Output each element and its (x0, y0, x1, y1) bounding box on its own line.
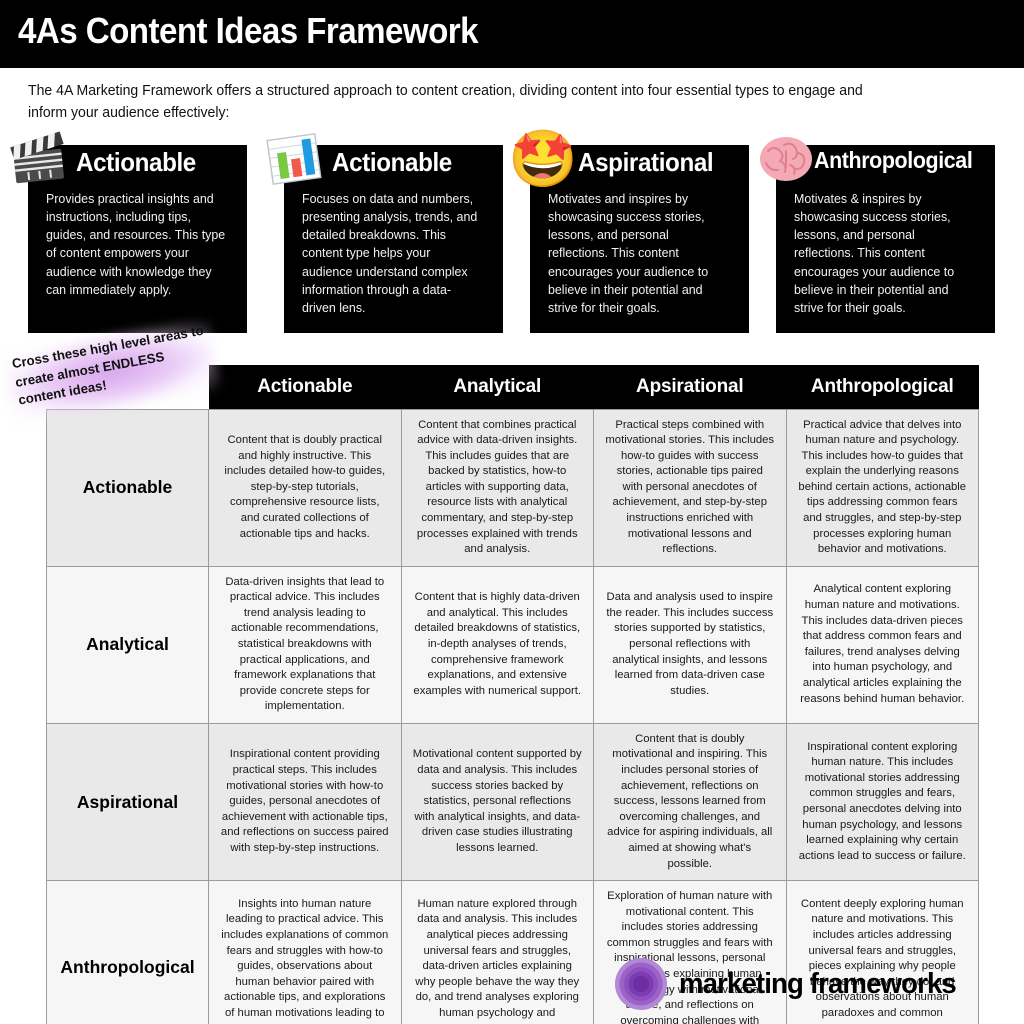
matrix-cell: Content that is highly data-driven and a… (401, 566, 594, 723)
footer-brand: marketing frameworks (615, 958, 970, 1010)
card-actionable: Actionable Provides practical insights a… (28, 145, 247, 333)
matrix-row-header-anthropological: Anthropological (47, 881, 209, 1024)
card-title: Aspirational (578, 147, 735, 178)
content-type-cards: Actionable Provides practical insights a… (0, 140, 1024, 335)
card-aspirational: 🤩 Aspirational Motivates and inspires by… (530, 145, 749, 333)
matrix-cell: Practical advice that delves into human … (786, 409, 979, 566)
clapperboard-icon (6, 127, 74, 195)
bar-chart-icon (262, 127, 330, 195)
card-analytical: Actionable Focuses on data and numbers, … (284, 145, 503, 333)
page-title: 4As Content Ideas Framework (18, 10, 478, 52)
card-title: Actionable (332, 147, 489, 178)
matrix-cell: Content that combines practical advice w… (401, 409, 594, 566)
infographic-page: 4As Content Ideas Framework The 4A Marke… (0, 0, 1024, 1024)
matrix-cell: Human nature explored through data and a… (401, 881, 594, 1024)
intro-paragraph: The 4A Marketing Framework offers a stru… (28, 80, 901, 125)
card-body: Motivates and inspires by showcasing suc… (548, 190, 729, 317)
card-body: Focuses on data and numbers, presenting … (302, 190, 483, 317)
brand-name: marketing frameworks (679, 968, 956, 1001)
matrix-cell: Motivational content supported by data a… (401, 723, 594, 880)
card-title: Anthropological (814, 147, 980, 174)
matrix-cell: Inspirational content providing practica… (209, 723, 402, 880)
card-body: Motivates & inspires by showcasing succe… (794, 190, 975, 317)
matrix-cell: Content that is doubly motivational and … (594, 723, 787, 880)
matrix-row-header-analytical: Analytical (47, 566, 209, 723)
star-struck-face-icon: 🤩 (508, 127, 576, 195)
title-bar: 4As Content Ideas Framework (0, 0, 1024, 68)
concentric-circles-logo-icon (615, 958, 667, 1010)
matrix-row-analytical: Analytical Data-driven insights that lea… (47, 566, 979, 723)
matrix-row-actionable: Actionable Content that is doubly practi… (47, 409, 979, 566)
matrix-cell: Data-driven insights that lead to practi… (209, 566, 402, 723)
card-anthropological: Anthropological Motivates & inspires by … (776, 145, 995, 333)
matrix-cell: Content that is doubly practical and hig… (209, 409, 402, 566)
matrix-cell: Practical steps combined with motivation… (594, 409, 787, 566)
matrix-col-header-analytical: Analytical (401, 365, 594, 409)
card-title: Actionable (76, 147, 233, 178)
matrix-cell: Data and analysis used to inspire the re… (594, 566, 787, 723)
matrix-row-header-actionable: Actionable (47, 409, 209, 566)
card-body: Provides practical insights and instruct… (46, 190, 227, 299)
matrix-col-header-actionable: Actionable (209, 365, 402, 409)
brain-icon (754, 127, 822, 195)
matrix-row-aspirational: Aspirational Inspirational content provi… (47, 723, 979, 880)
matrix-cell: Inspirational content exploring human na… (786, 723, 979, 880)
matrix-col-header-anthropological: Anthropological (786, 365, 979, 409)
matrix-row-header-aspirational: Aspirational (47, 723, 209, 880)
matrix-cell: Analytical content exploring human natur… (786, 566, 979, 723)
matrix-col-header-apsirational: Apsirational (594, 365, 787, 409)
matrix-cell: Insights into human nature leading to pr… (209, 881, 402, 1024)
cross-matrix-table: Actionable Analytical Apsirational Anthr… (46, 365, 979, 1024)
